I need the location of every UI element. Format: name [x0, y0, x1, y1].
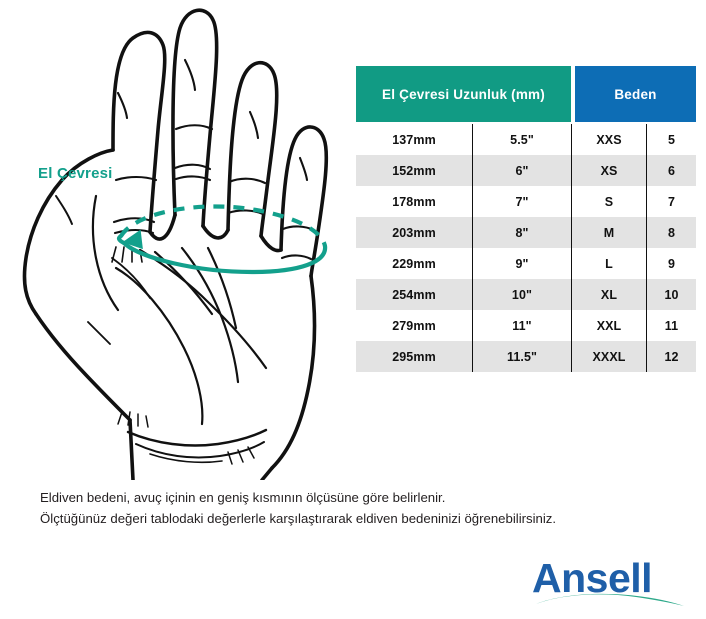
measure-line-solid: [124, 243, 325, 272]
cell-circumference-inch: 11.5": [472, 341, 571, 372]
cell-size-label: M: [571, 217, 646, 248]
table-row: 178mm7"S7: [356, 186, 696, 217]
cell-circumference-mm: 229mm: [356, 248, 472, 279]
cell-circumference-inch: 10": [472, 279, 571, 310]
cell-circumference-mm: 279mm: [356, 310, 472, 341]
cell-size-number: 10: [646, 279, 696, 310]
hand-palm-illustration: El Çevresi: [0, 0, 345, 480]
cell-size-number: 8: [646, 217, 696, 248]
cell-circumference-inch: 5.5": [472, 124, 571, 155]
cell-size-number: 9: [646, 248, 696, 279]
cell-size-label: S: [571, 186, 646, 217]
table-row: 229mm9"L9: [356, 248, 696, 279]
table-body: 137mm5.5"XXS5152mm6"XS6178mm7"S7203mm8"M…: [356, 124, 696, 372]
hand-circumference-label: El Çevresi: [38, 165, 113, 182]
cell-circumference-mm: 254mm: [356, 279, 472, 310]
cell-circumference-mm: 295mm: [356, 341, 472, 372]
table-row: 203mm8"M8: [356, 217, 696, 248]
table-row: 137mm5.5"XXS5: [356, 124, 696, 155]
ansell-logo-wave-icon: [532, 556, 690, 610]
column-header-size: Beden: [575, 66, 696, 122]
cell-size-number: 6: [646, 155, 696, 186]
cell-circumference-inch: 6": [472, 155, 571, 186]
cell-circumference-inch: 9": [472, 248, 571, 279]
cell-circumference-mm: 137mm: [356, 124, 472, 155]
table-row: 254mm10"XL10: [356, 279, 696, 310]
cell-size-number: 7: [646, 186, 696, 217]
glove-size-chart: El Çevresi El Çevresi Uzunluk (mm) Beden…: [0, 0, 706, 619]
cell-size-label: L: [571, 248, 646, 279]
table-header-row: El Çevresi Uzunluk (mm) Beden: [356, 66, 696, 122]
hand-outline-svg: [0, 0, 345, 480]
cell-size-label: XL: [571, 279, 646, 310]
cell-size-number: 11: [646, 310, 696, 341]
glove-size-table: El Çevresi Uzunluk (mm) Beden 137mm5.5"X…: [356, 66, 696, 372]
caption-line-2: Ölçtüğünüz değeri tablodaki değerlerle k…: [40, 508, 680, 529]
table-row: 295mm11.5"XXXL12: [356, 341, 696, 372]
cell-circumference-inch: 11": [472, 310, 571, 341]
cell-circumference-inch: 7": [472, 186, 571, 217]
caption-line-1: Eldiven bedeni, avuç içinin en geniş kıs…: [40, 487, 680, 508]
column-header-circumference: El Çevresi Uzunluk (mm): [356, 66, 571, 122]
cell-size-number: 12: [646, 341, 696, 372]
cell-circumference-mm: 178mm: [356, 186, 472, 217]
ansell-logo: Ansell: [532, 556, 690, 610]
cell-circumference-inch: 8": [472, 217, 571, 248]
cell-circumference-mm: 203mm: [356, 217, 472, 248]
cell-size-label: XXL: [571, 310, 646, 341]
cell-size-label: XS: [571, 155, 646, 186]
cell-size-number: 5: [646, 124, 696, 155]
cell-size-label: XXS: [571, 124, 646, 155]
table-row: 279mm11"XXL11: [356, 310, 696, 341]
instructions-caption: Eldiven bedeni, avuç içinin en geniş kıs…: [40, 487, 680, 529]
cell-size-label: XXXL: [571, 341, 646, 372]
table-row: 152mm6"XS6: [356, 155, 696, 186]
cell-circumference-mm: 152mm: [356, 155, 472, 186]
